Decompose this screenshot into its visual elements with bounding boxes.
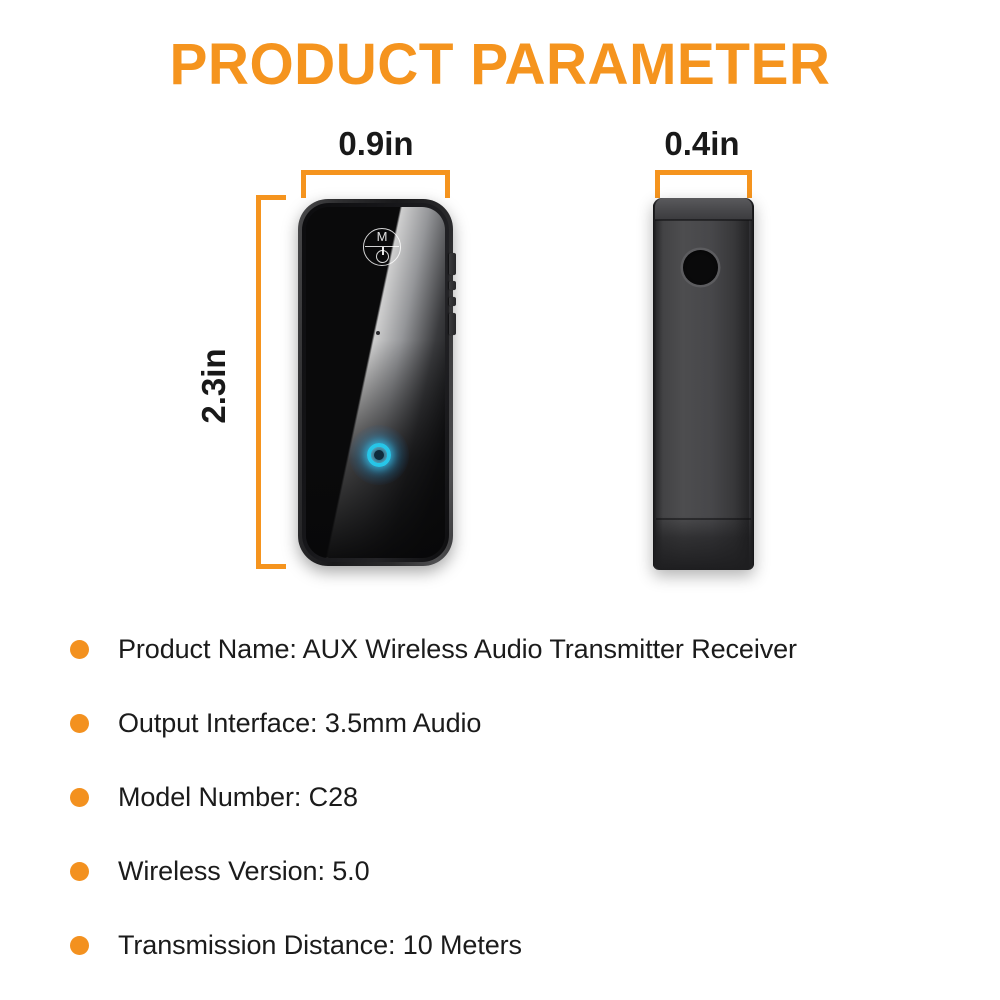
spec-label: Wireless Version: 5.0 — [118, 855, 370, 887]
spec-label: Transmission Distance: 10 Meters — [118, 929, 522, 961]
device-front-face: M — [306, 207, 445, 558]
list-item: Product Name: AUX Wireless Audio Transmi… — [70, 612, 970, 686]
power-icon-stem — [382, 247, 384, 255]
bullet-icon — [70, 862, 89, 881]
page-title: PRODUCT PARAMETER — [10, 30, 990, 100]
width-bracket-side-view — [655, 170, 752, 198]
device-side-edge-left — [653, 202, 657, 568]
device-side-top-seam — [655, 219, 752, 221]
bullet-icon — [70, 788, 89, 807]
list-item: Model Number: C28 — [70, 760, 970, 834]
audio-jack-port-icon — [683, 250, 718, 285]
dimension-label-height-front: 2.3in — [196, 311, 232, 461]
led-core — [374, 450, 384, 460]
spec-label: Product Name: AUX Wireless Audio Transmi… — [118, 633, 797, 665]
bullet-icon — [70, 936, 89, 955]
device-side-bottom-cap — [655, 516, 752, 570]
side-button-top — [449, 253, 456, 275]
product-side-view — [653, 198, 754, 570]
list-item: Transmission Distance: 10 Meters — [70, 908, 970, 982]
side-button-bottom — [449, 313, 456, 335]
device-side-edge-right — [749, 202, 754, 568]
dimension-label-width-side: 0.4in — [650, 126, 754, 162]
side-button-mid-upper — [449, 281, 456, 290]
dimension-label-width-front: 0.9in — [303, 126, 449, 162]
bullet-icon — [70, 714, 89, 733]
bullet-icon — [70, 640, 89, 659]
spec-label: Output Interface: 3.5mm Audio — [118, 707, 481, 739]
side-button-mid-lower — [449, 297, 456, 306]
width-bracket-front-view — [301, 170, 450, 198]
mode-power-button: M — [363, 228, 401, 266]
device-side-top-cap — [655, 198, 752, 220]
height-bracket-front-view — [256, 195, 286, 569]
specification-list: Product Name: AUX Wireless Audio Transmi… — [70, 612, 970, 982]
list-item: Wireless Version: 5.0 — [70, 834, 970, 908]
list-item: Output Interface: 3.5mm Audio — [70, 686, 970, 760]
mode-button-letter: M — [364, 230, 400, 243]
microphone-pinhole — [376, 331, 380, 335]
spec-label: Model Number: C28 — [118, 781, 358, 813]
product-front-view: M — [298, 199, 453, 566]
